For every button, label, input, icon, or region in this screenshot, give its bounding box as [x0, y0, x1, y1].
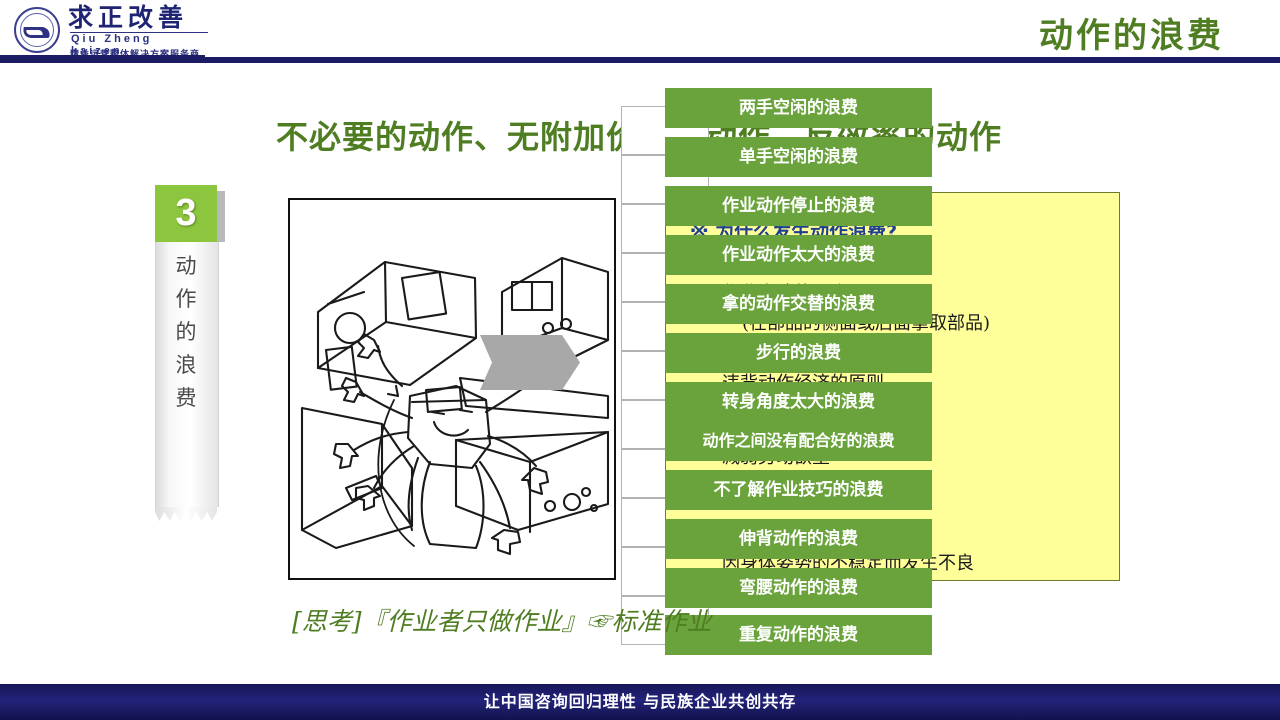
- chapter-ribbon: 3 动 作 的 浪 费: [155, 185, 225, 530]
- page-title: 动作的浪费: [1039, 8, 1224, 57]
- logo-emblem-icon: [14, 7, 60, 53]
- ribbon-shadow: [217, 191, 225, 242]
- waste-item-box[interactable]: 伸背动作的浪费: [665, 519, 932, 559]
- page-header: 求正改善 Qiu Zheng kaizen 精益运营整体解决方案服务商 动作的浪…: [0, 0, 1280, 63]
- waste-item-box[interactable]: 动作之间没有配合好的浪费: [665, 421, 932, 461]
- ribbon-char: 的: [155, 316, 217, 349]
- logo-chinese-name: 求正改善: [68, 4, 188, 31]
- waste-item-box[interactable]: 作业动作停止的浪费: [665, 186, 932, 226]
- waste-item-box[interactable]: 单手空闲的浪费: [665, 137, 932, 177]
- waste-item-box[interactable]: 两手空闲的浪费: [665, 88, 932, 128]
- waste-item-box[interactable]: 拿的动作交替的浪费: [665, 284, 932, 324]
- ribbon-char: 作: [155, 283, 217, 316]
- ribbon-char: 费: [155, 382, 217, 415]
- waste-item-box[interactable]: 步行的浪费: [665, 333, 932, 373]
- worker-illustration: [288, 198, 616, 580]
- waste-item-box[interactable]: 不了解作业技巧的浪费: [665, 470, 932, 510]
- grey-arrow-marker: [480, 335, 580, 390]
- ribbon-char: 浪: [155, 349, 217, 382]
- chapter-number: 3: [155, 185, 217, 242]
- footer-slogan: 让中国咨询回归理性 与民族企业共创共存: [0, 684, 1280, 720]
- ribbon-char: 动: [155, 250, 217, 283]
- waste-item-box[interactable]: 作业动作太大的浪费: [665, 235, 932, 275]
- chapter-label-vertical: 动 作 的 浪 费: [155, 250, 217, 415]
- ribbon-zigzag-edge: [155, 507, 217, 521]
- page-footer: 让中国咨询回归理性 与民族企业共创共存: [0, 684, 1280, 720]
- waste-item-box[interactable]: 转身角度太大的浪费: [665, 382, 932, 422]
- worker-illustration-art: [290, 200, 614, 578]
- thought-note: [思考]『作业者只做作业』☞标准作业: [292, 602, 712, 638]
- company-logo: 求正改善 Qiu Zheng kaizen 精益运营整体解决方案服务商: [8, 3, 208, 57]
- header-divider: [0, 57, 1280, 63]
